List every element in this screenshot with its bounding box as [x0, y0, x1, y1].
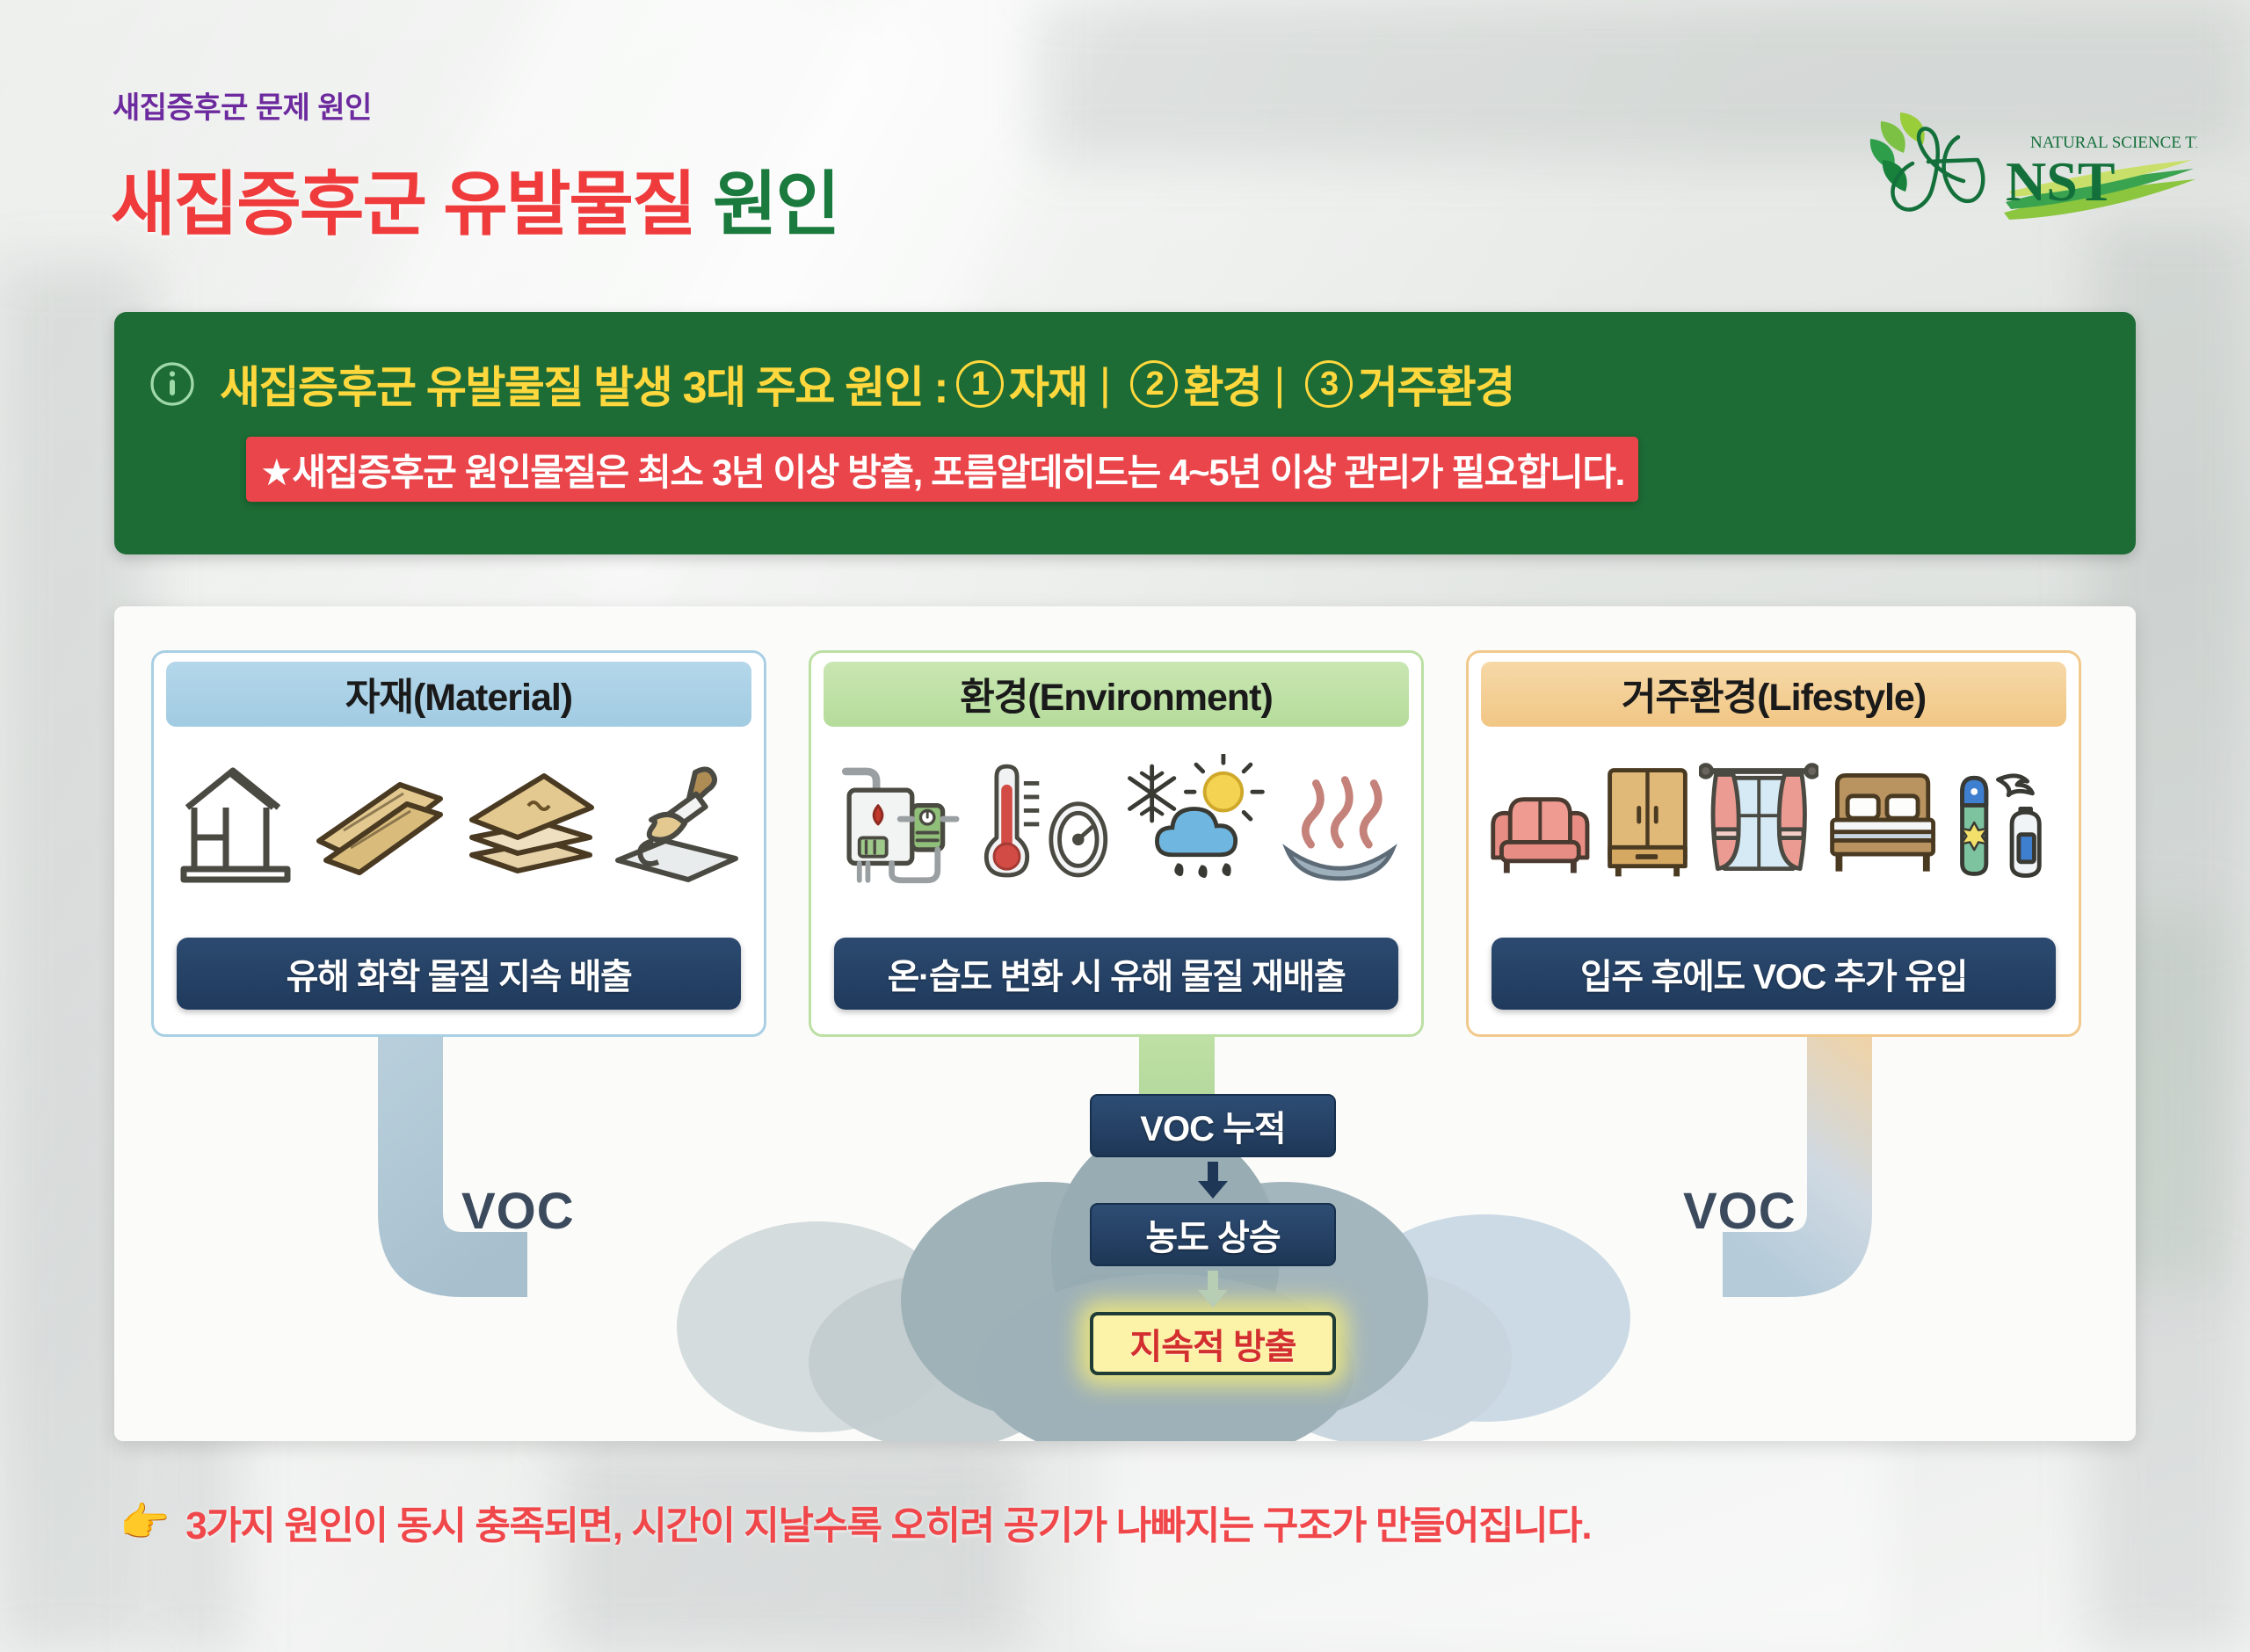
arrow-down-icon — [1193, 1160, 1233, 1200]
logo-tagline: NATURAL SCIENCE TECHNOLOGY — [2030, 134, 2197, 152]
cause-card-lifestyle: 거주환경(Lifestyle) — [1466, 650, 2081, 1037]
spray-bottles-icon — [1947, 754, 2063, 890]
cause-card-environment-title: 환경(Environment) — [824, 662, 1409, 727]
weather-snow-sun-rain-icon — [1116, 754, 1274, 890]
alert-strip: ★새집증후군 원인물질은 최소 3년 이상 방출, 포름알데히드는 4~5년 이… — [246, 437, 1638, 502]
pointing-hand-icon: 👉 — [120, 1502, 170, 1542]
page-title: 새집증후군 유발물질 원인 — [111, 148, 838, 250]
cause-card-lifestyle-icons — [1484, 745, 2063, 899]
page-title-green: 원인 — [713, 165, 838, 243]
cause-number-1: 1 — [956, 360, 1004, 408]
voc-chain-step-2: 농도 상승 — [1090, 1203, 1336, 1266]
voc-pipe-right — [1723, 1037, 1872, 1297]
alert-strip-text: ★새집증후군 원인물질은 최소 3년 이상 방출, 포름알데히드는 4~5년 이… — [260, 443, 1624, 496]
footer-note: 👉 3가지 원인이 동시 충족되면, 시간이 지날수록 오히려 공기가 나빠지는… — [120, 1494, 1591, 1550]
diagram-panel: 자재(Material) — [114, 606, 2136, 1441]
cause-label-2: 환경 — [1183, 352, 1261, 416]
boiler-icon — [827, 754, 968, 890]
brand-logo: NATURAL SCIENCE TECHNOLOGY NST — [1854, 105, 2197, 228]
voc-pipe-left — [378, 1037, 527, 1297]
cause-card-environment-caption-text: 온·습도 변화 시 유해 물질 재배출 — [888, 948, 1346, 999]
info-circle-icon — [149, 361, 195, 407]
voc-label-right: VOC — [1683, 1182, 1796, 1241]
cause-number-2: 2 — [1130, 360, 1178, 408]
cause-card-environment-caption: 온·습도 변화 시 유해 물질 재배출 — [834, 938, 1398, 1010]
cause-card-material-caption: 유해 화학 물질 지속 배출 — [177, 938, 741, 1010]
cause-card-material-caption-text: 유해 화학 물질 지속 배출 — [287, 948, 632, 999]
footer-note-text: 3가지 원인이 동시 충족되면, 시간이 지날수록 오히려 공기가 나빠지는 구… — [185, 1494, 1591, 1550]
logo-name: NST — [2006, 150, 2116, 213]
eyebrow-label: 새집증후군 문제 원인 — [112, 83, 372, 127]
thermometer-gauge-icon — [968, 754, 1116, 890]
cause-number-3: 3 — [1305, 360, 1353, 408]
cause-card-environment: 환경(Environment) — [809, 650, 1424, 1037]
wardrobe-icon — [1596, 757, 1699, 888]
cause-separator-2: | — [1274, 359, 1284, 409]
arrow-down-icon — [1193, 1269, 1233, 1309]
cause-card-environment-icons — [827, 745, 1405, 899]
cause-card-material: 자재(Material) — [151, 650, 766, 1037]
voc-label-left: VOC — [461, 1182, 575, 1241]
cause-card-material-icons — [170, 745, 748, 899]
bed-icon — [1818, 757, 1947, 888]
info-banner-headline: 새집증후군 유발물질 발생 3대 주요 원인 : 1 자재 | 2 환경 | 3… — [220, 352, 1514, 416]
cause-card-lifestyle-title: 거주환경(Lifestyle) — [1481, 662, 2066, 727]
paint-brush-icon — [611, 757, 743, 888]
voc-chain-step-1: VOC 누적 — [1090, 1094, 1336, 1157]
info-banner-headline-prefix: 새집증후군 유발물질 발생 3대 주요 원인 : — [220, 352, 947, 416]
info-banner-headline-row: 새집증후군 유발물질 발생 3대 주요 원인 : 1 자재 | 2 환경 | 3… — [149, 347, 2109, 421]
cause-label-1: 자재 — [1009, 352, 1087, 416]
cause-card-lifestyle-caption-text: 입주 후에도 VOC 추가 유입 — [1580, 948, 1967, 999]
heat-waves-icon — [1274, 754, 1405, 890]
house-frame-icon — [175, 757, 298, 888]
cause-label-3: 거주환경 — [1358, 352, 1514, 416]
voc-chain: VOC 누적 농도 상승 지속적 방출 — [1090, 1094, 1336, 1375]
wood-planks-icon — [308, 757, 449, 888]
page-title-red: 새집증후군 유발물질 — [111, 165, 695, 243]
cause-separator-1: | — [1100, 359, 1110, 409]
voc-chain-arrow-2 — [1090, 1266, 1336, 1312]
logo-h-script-icon — [1892, 128, 1983, 209]
info-banner: 새집증후군 유발물질 발생 3대 주요 원인 : 1 자재 | 2 환경 | 3… — [114, 312, 2136, 554]
cause-card-lifestyle-caption: 입주 후에도 VOC 추가 유입 — [1492, 938, 2056, 1010]
curtains-icon — [1699, 754, 1818, 890]
cause-card-material-title: 자재(Material) — [166, 662, 751, 727]
plywood-stack-icon — [460, 757, 600, 888]
sofa-icon — [1484, 757, 1596, 888]
voc-chain-arrow-1 — [1090, 1157, 1336, 1203]
voc-chain-step-3: 지속적 방출 — [1090, 1312, 1336, 1375]
